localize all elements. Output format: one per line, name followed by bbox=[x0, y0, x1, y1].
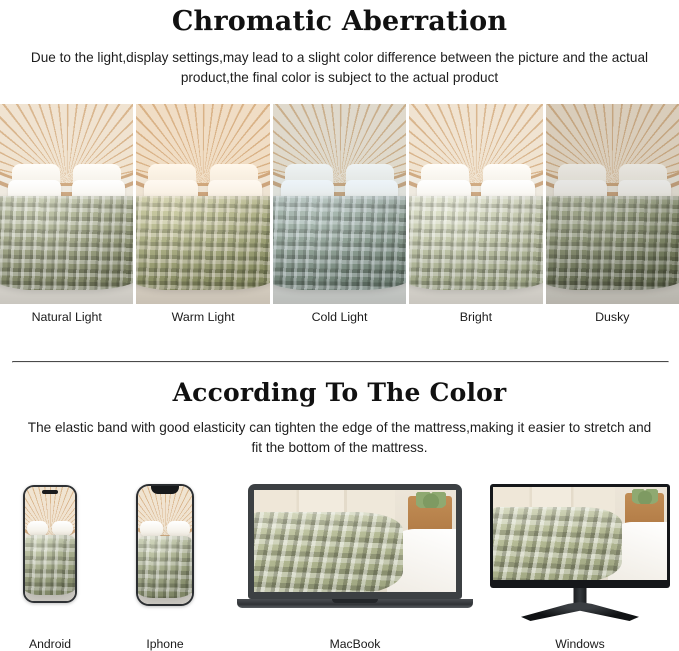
knit-blanket bbox=[136, 196, 269, 290]
plant bbox=[632, 489, 658, 504]
bed-scene bbox=[0, 104, 133, 304]
bed-scene bbox=[273, 104, 406, 304]
knit-blanket bbox=[409, 196, 542, 290]
trackpad-notch bbox=[332, 599, 378, 603]
knit-blanket bbox=[273, 196, 406, 290]
screen-photo-closeup bbox=[254, 490, 456, 592]
section-title-chromatic-aberration: Chromatic Aberration bbox=[0, 6, 679, 38]
section-description-chromatic-aberration: Due to the light,display settings,may le… bbox=[25, 48, 655, 88]
knit-blanket bbox=[25, 535, 75, 595]
pillow-left bbox=[140, 521, 163, 536]
camera-pill-notch bbox=[42, 490, 58, 494]
monitor-screen bbox=[493, 487, 667, 580]
lighting-label: Natural Light bbox=[0, 310, 133, 324]
device-label: Windows bbox=[520, 637, 640, 651]
section-divider bbox=[12, 361, 669, 363]
device-mockup-macbook bbox=[237, 484, 473, 616]
device-mockup-windows bbox=[490, 484, 670, 619]
device-label: MacBook bbox=[295, 637, 415, 651]
phone-screen-photo bbox=[138, 486, 192, 604]
notch bbox=[151, 486, 179, 494]
lighting-photo-dusky bbox=[546, 104, 679, 304]
bed-scene bbox=[546, 104, 679, 304]
knit-blanket bbox=[546, 196, 679, 290]
lighting-label: Cold Light bbox=[273, 310, 406, 324]
section-title-according-to-the-color: According To The Color bbox=[0, 378, 679, 408]
device-mockup-android bbox=[23, 485, 77, 603]
knit-blanket bbox=[493, 507, 622, 580]
lighting-photo-natural-light bbox=[0, 104, 133, 304]
knit-blanket bbox=[0, 196, 133, 290]
monitor-bezel bbox=[490, 484, 670, 588]
lighting-photo-warm-light bbox=[136, 104, 269, 304]
lighting-label: Bright bbox=[409, 310, 542, 324]
knit-blanket bbox=[138, 536, 192, 599]
laptop-screen bbox=[254, 490, 456, 592]
device-label: Iphone bbox=[105, 637, 225, 651]
lighting-label: Warm Light bbox=[136, 310, 269, 324]
bed-scene bbox=[409, 104, 542, 304]
lighting-label: Dusky bbox=[546, 310, 679, 324]
lighting-photo-bright bbox=[409, 104, 542, 304]
device-mockup-iphone bbox=[136, 484, 194, 606]
bed-scene bbox=[136, 104, 269, 304]
plant bbox=[416, 492, 446, 508]
lighting-comparison-gallery bbox=[0, 104, 679, 304]
knit-blanket bbox=[254, 512, 403, 592]
phone-screen-photo bbox=[25, 487, 75, 601]
device-preview-row bbox=[0, 476, 679, 626]
laptop-base bbox=[237, 599, 473, 608]
pillow-right bbox=[52, 521, 73, 536]
screen-photo-closeup bbox=[493, 487, 667, 580]
device-label: Android bbox=[0, 637, 110, 651]
section-description-according-to-the-color: The elastic band with good elasticity ca… bbox=[25, 418, 655, 458]
monitor-stand-base bbox=[521, 602, 639, 621]
pillow-left bbox=[27, 521, 48, 536]
lighting-photo-cold-light bbox=[273, 104, 406, 304]
laptop-lid bbox=[248, 484, 462, 599]
pillow-right bbox=[167, 521, 190, 536]
